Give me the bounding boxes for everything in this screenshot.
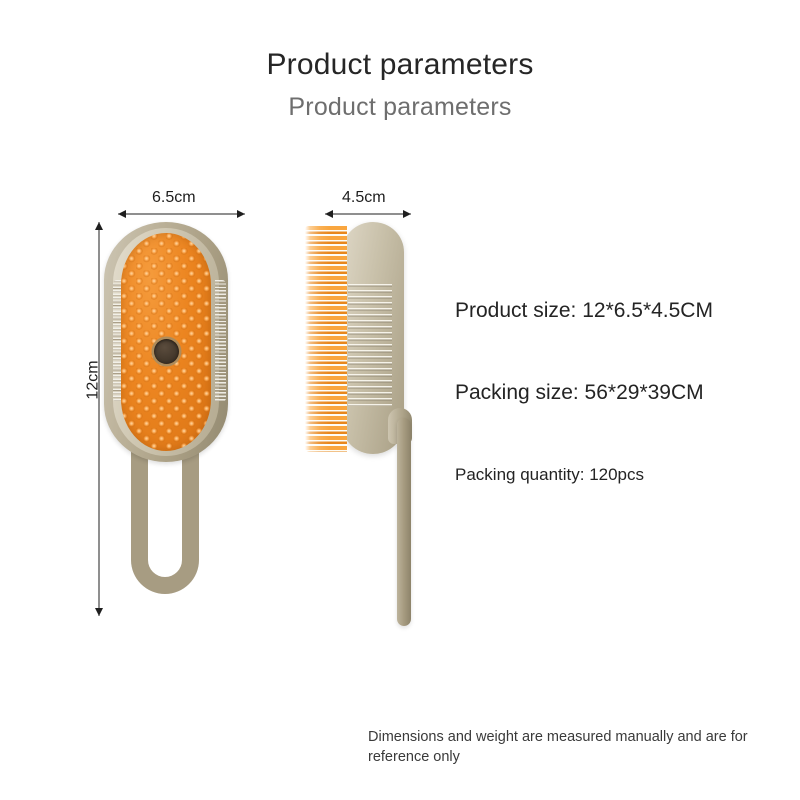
arrow-head-right-icon bbox=[237, 210, 245, 218]
arrow-head-right-icon bbox=[403, 210, 411, 218]
arrow-line bbox=[98, 222, 99, 616]
dimension-arrow-width-front bbox=[118, 209, 245, 218]
arrow-head-left-icon bbox=[118, 210, 126, 218]
front-view-steam-hole bbox=[154, 339, 179, 364]
arrow-line bbox=[325, 213, 411, 214]
footer-disclaimer: Dimensions and weight are measured manua… bbox=[368, 728, 788, 767]
product-front-view bbox=[100, 222, 260, 622]
page-title: Product parameters bbox=[0, 48, 800, 81]
page-subtitle: Product parameters bbox=[0, 94, 800, 122]
side-view-comb-grooves bbox=[348, 284, 392, 406]
spec-packing-size: Packing size: 56*29*39CM bbox=[455, 382, 704, 403]
front-view-shell bbox=[104, 222, 228, 462]
product-parameters-page: Product parameters Product parameters 6.… bbox=[0, 0, 800, 800]
dimension-label-width-front: 6.5cm bbox=[152, 190, 196, 206]
dimension-arrow-width-side bbox=[325, 209, 411, 218]
spec-packing-quantity: Packing quantity: 120pcs bbox=[455, 466, 644, 483]
side-view-bristles bbox=[305, 226, 347, 452]
side-view-handle bbox=[397, 418, 411, 626]
arrow-line bbox=[118, 213, 245, 214]
dimension-label-width-side: 4.5cm bbox=[342, 190, 386, 206]
product-side-view bbox=[300, 222, 440, 632]
spec-product-size: Product size: 12*6.5*4.5CM bbox=[455, 300, 713, 321]
front-view-comb-teeth-right bbox=[215, 280, 226, 402]
arrow-head-left-icon bbox=[325, 210, 333, 218]
